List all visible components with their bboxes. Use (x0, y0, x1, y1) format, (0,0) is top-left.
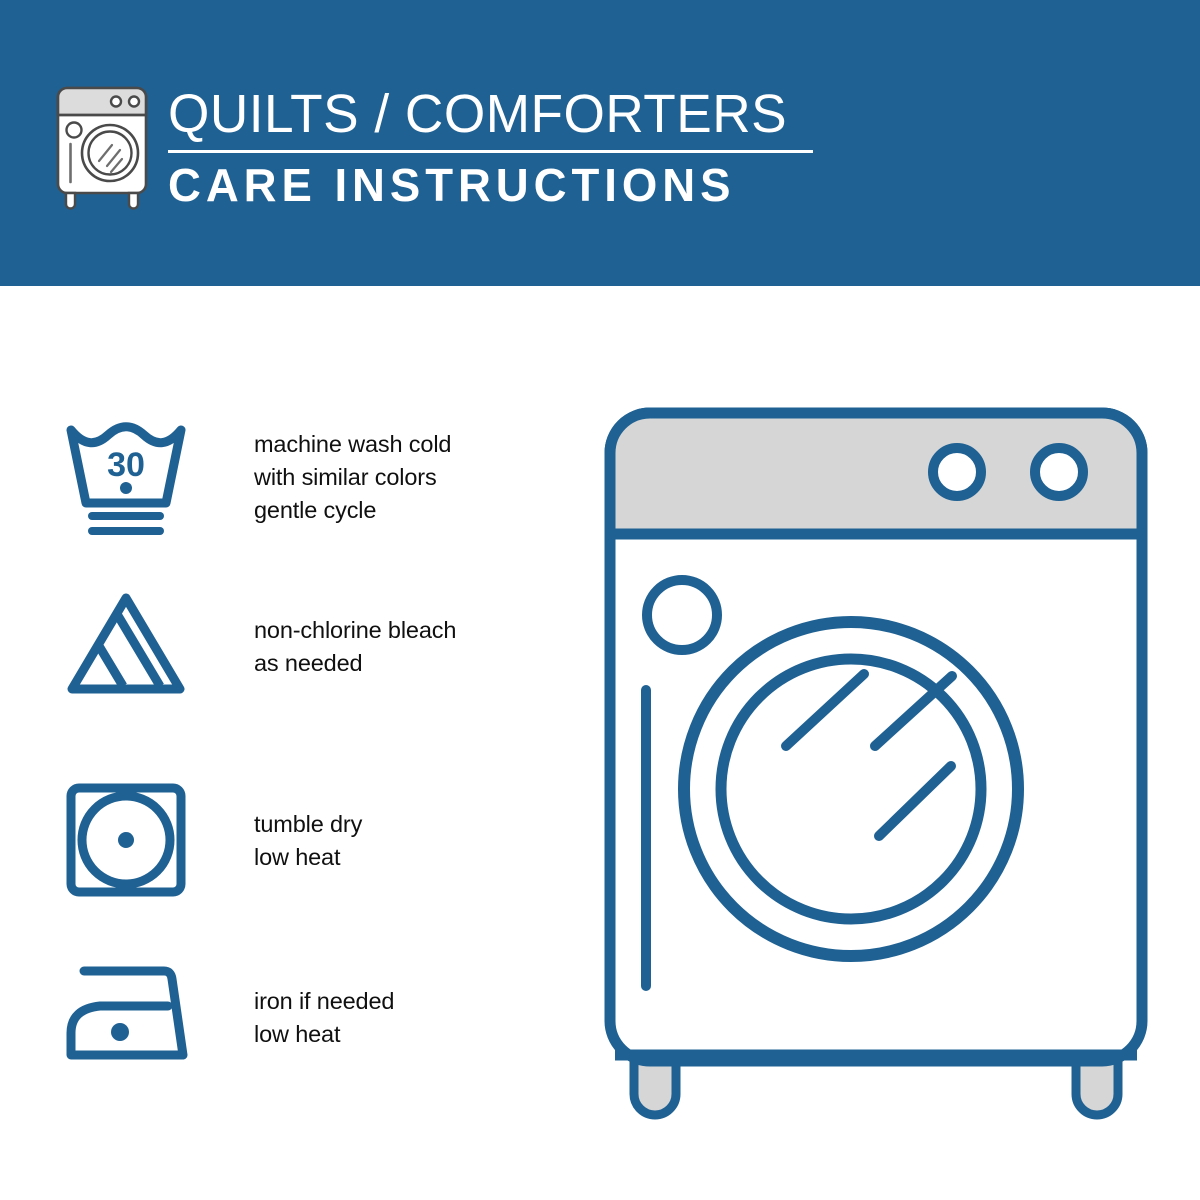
iron-icon (62, 955, 194, 1075)
care-text-iron: iron if needed low heat (254, 955, 532, 1051)
tumble-dry-square-icon (62, 780, 194, 900)
care-instructions-page: QUILTS / COMFORTERS CARE INSTRUCTIONS 30… (0, 0, 1200, 1200)
front-load-washing-machine-illustration (596, 404, 1156, 1124)
care-text-tumble-dry: tumble dry low heat (254, 780, 532, 874)
door-inner-ring[interactable] (721, 659, 981, 919)
wash-temperature-label: 30 (107, 446, 145, 484)
title-divider (168, 150, 813, 153)
bleach-triangle-icon (62, 586, 194, 706)
page-title: QUILTS / COMFORTERS (168, 84, 808, 144)
care-row-wash: 30 machine wash cold with similar colors… (62, 418, 532, 538)
care-row-tumble-dry: tumble dry low heat (62, 780, 532, 900)
care-row-iron: iron if needed low heat (62, 955, 532, 1075)
care-text-wash: machine wash cold with similar colors ge… (254, 418, 532, 527)
care-text-bleach: non-chlorine bleach as needed (254, 586, 532, 680)
page-header: QUILTS / COMFORTERS CARE INSTRUCTIONS (0, 0, 1200, 286)
knob-right[interactable] (1035, 448, 1083, 496)
detergent-dial[interactable] (647, 580, 717, 650)
knob-left[interactable] (933, 448, 981, 496)
care-row-bleach: non-chlorine bleach as needed (62, 586, 532, 706)
washing-machine-icon (52, 82, 156, 210)
header-title-block: QUILTS / COMFORTERS CARE INSTRUCTIONS (168, 84, 818, 210)
wash-tub-30-icon: 30 (62, 418, 194, 538)
page-subtitle: CARE INSTRUCTIONS (168, 160, 812, 210)
